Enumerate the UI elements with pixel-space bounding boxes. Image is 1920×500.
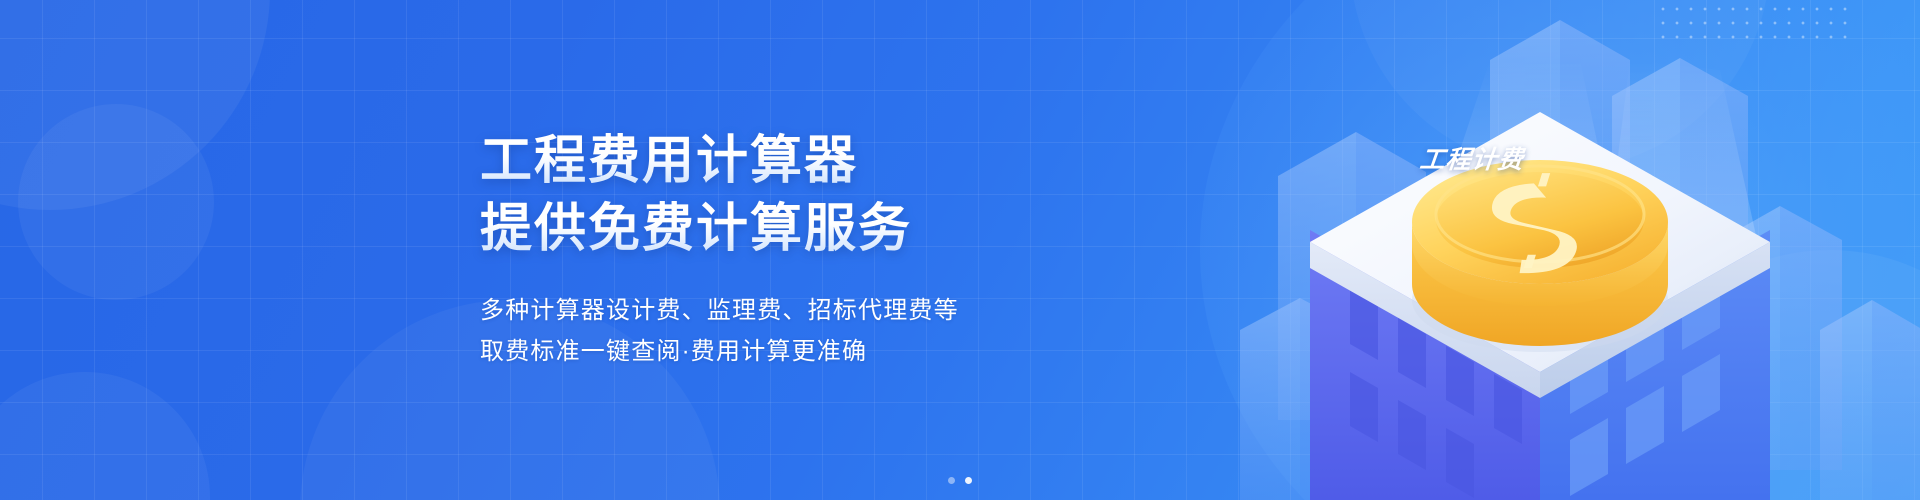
carousel-dot-1[interactable] [948, 477, 955, 484]
banner-text-content: 工程费用计算器 提供免费计算服务 多种计算器设计费、监理费、招标代理费等 取费标… [480, 130, 959, 372]
gold-coin-stack [1412, 160, 1668, 352]
carousel-dots[interactable] [948, 477, 972, 484]
headline-line-1: 工程费用计算器 [480, 130, 959, 192]
isometric-illustration: 工程计费 [1160, 0, 1920, 500]
headline-line-2: 提供免费计算服务 [480, 198, 959, 260]
subtitle-line-1: 多种计算器设计费、监理费、招标代理费等 [480, 290, 959, 331]
illustration-label: 工程计费 [1418, 140, 1526, 176]
promo-banner: 工程计费 工程费用计算器 提供免费计算服务 多种计算器设计费、监理费、招标代理费… [0, 0, 1920, 500]
carousel-dot-2[interactable] [965, 477, 972, 484]
subtitle-line-2: 取费标准一键查阅·费用计算更准确 [480, 331, 959, 372]
